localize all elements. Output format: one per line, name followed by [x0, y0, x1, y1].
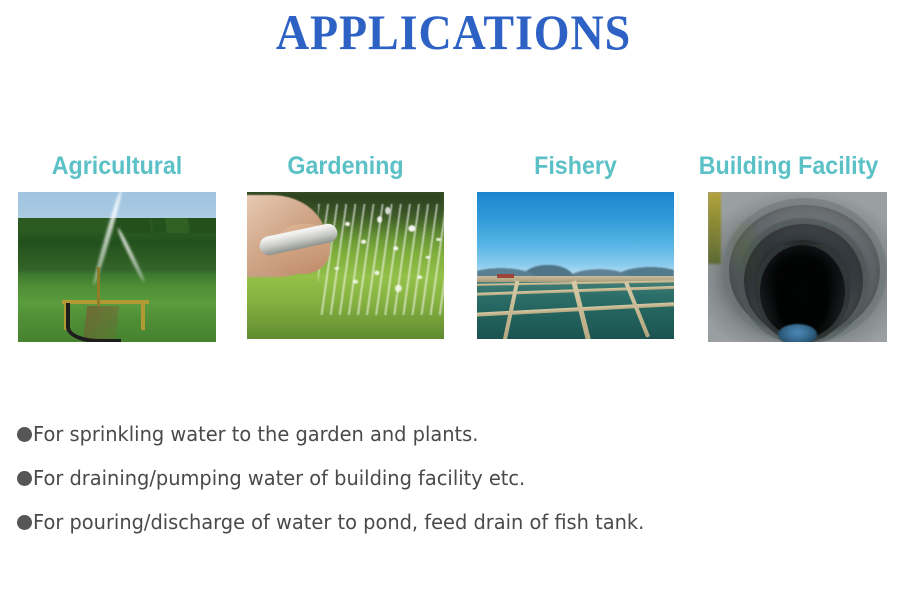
card-label-building-facility: Building Facility: [697, 150, 880, 182]
bullet-text: For sprinkling water to the garden and p…: [33, 421, 478, 447]
sprinkler-mast: [97, 267, 100, 306]
bullet-text: For draining/pumping water of building f…: [33, 465, 525, 491]
shoreline-building: [497, 274, 515, 278]
gardening-hose-spray-photo: [247, 192, 444, 339]
agricultural-irrigation-sprinkler-photo: [18, 192, 216, 342]
application-card-fishery: Fishery: [477, 150, 674, 339]
bullet-circle-icon: [17, 471, 32, 486]
fishery-aquaculture-ponds-photo: [477, 192, 674, 339]
list-item: For draining/pumping water of building f…: [17, 456, 887, 500]
building-facility-well-photo: [708, 192, 887, 342]
card-label-agricultural: Agricultural: [25, 150, 209, 182]
well-water-surface: [778, 324, 817, 342]
page-title: APPLICATIONS: [36, 2, 870, 62]
sprinkler-leg-right: [141, 300, 145, 330]
bullet-text: For pouring/discharge of water to pond, …: [33, 509, 644, 535]
application-card-building-facility: Building Facility: [690, 150, 887, 342]
applications-bullet-list: For sprinkling water to the garden and p…: [17, 412, 887, 544]
water-jet-secondary: [116, 227, 146, 283]
irrigation-hose: [66, 303, 121, 342]
well-side-vegetation: [708, 192, 721, 264]
card-label-fishery: Fishery: [484, 150, 667, 182]
application-card-agricultural: Agricultural: [18, 150, 216, 342]
list-item: For pouring/discharge of water to pond, …: [17, 500, 887, 544]
application-card-gardening: Gardening: [247, 150, 444, 339]
water-spray-fan: [318, 204, 444, 316]
pond-dike-near: [477, 300, 674, 316]
application-cards: Agricultural Gardening Fishery: [0, 150, 907, 345]
card-label-gardening: Gardening: [254, 150, 437, 182]
list-item: For sprinkling water to the garden and p…: [17, 412, 887, 456]
bullet-circle-icon: [17, 427, 32, 442]
bullet-circle-icon: [17, 515, 32, 530]
